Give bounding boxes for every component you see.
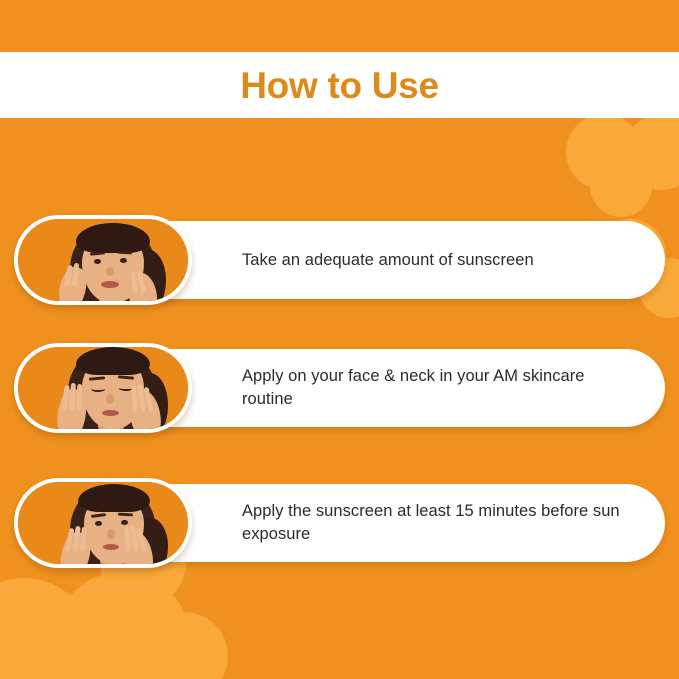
step-thumbnail [14,343,192,433]
list-item: Apply the sunscreen at least 15 minutes … [14,478,665,568]
step-text: Apply the sunscreen at least 15 minutes … [242,500,639,546]
step-thumbnail [14,215,192,305]
woman-applying-sunscreen-eyes-closed-photo [18,347,188,429]
list-item: Take an adequate amount of sunscreen [14,215,665,305]
header-band: How to Use [0,52,679,118]
step-text: Take an adequate amount of sunscreen [242,249,534,272]
page-title: How to Use [240,67,438,104]
step-thumbnail [14,478,192,568]
woman-applying-sunscreen-cheeks-photo [18,482,188,564]
step-text: Apply on your face & neck in your AM ski… [242,365,639,411]
how-to-use-poster: How to Use Take an adequate amount of su… [0,0,679,679]
list-item: Apply on your face & neck in your AM ski… [14,343,665,433]
woman-applying-sunscreen-smiling-photo [18,219,188,301]
